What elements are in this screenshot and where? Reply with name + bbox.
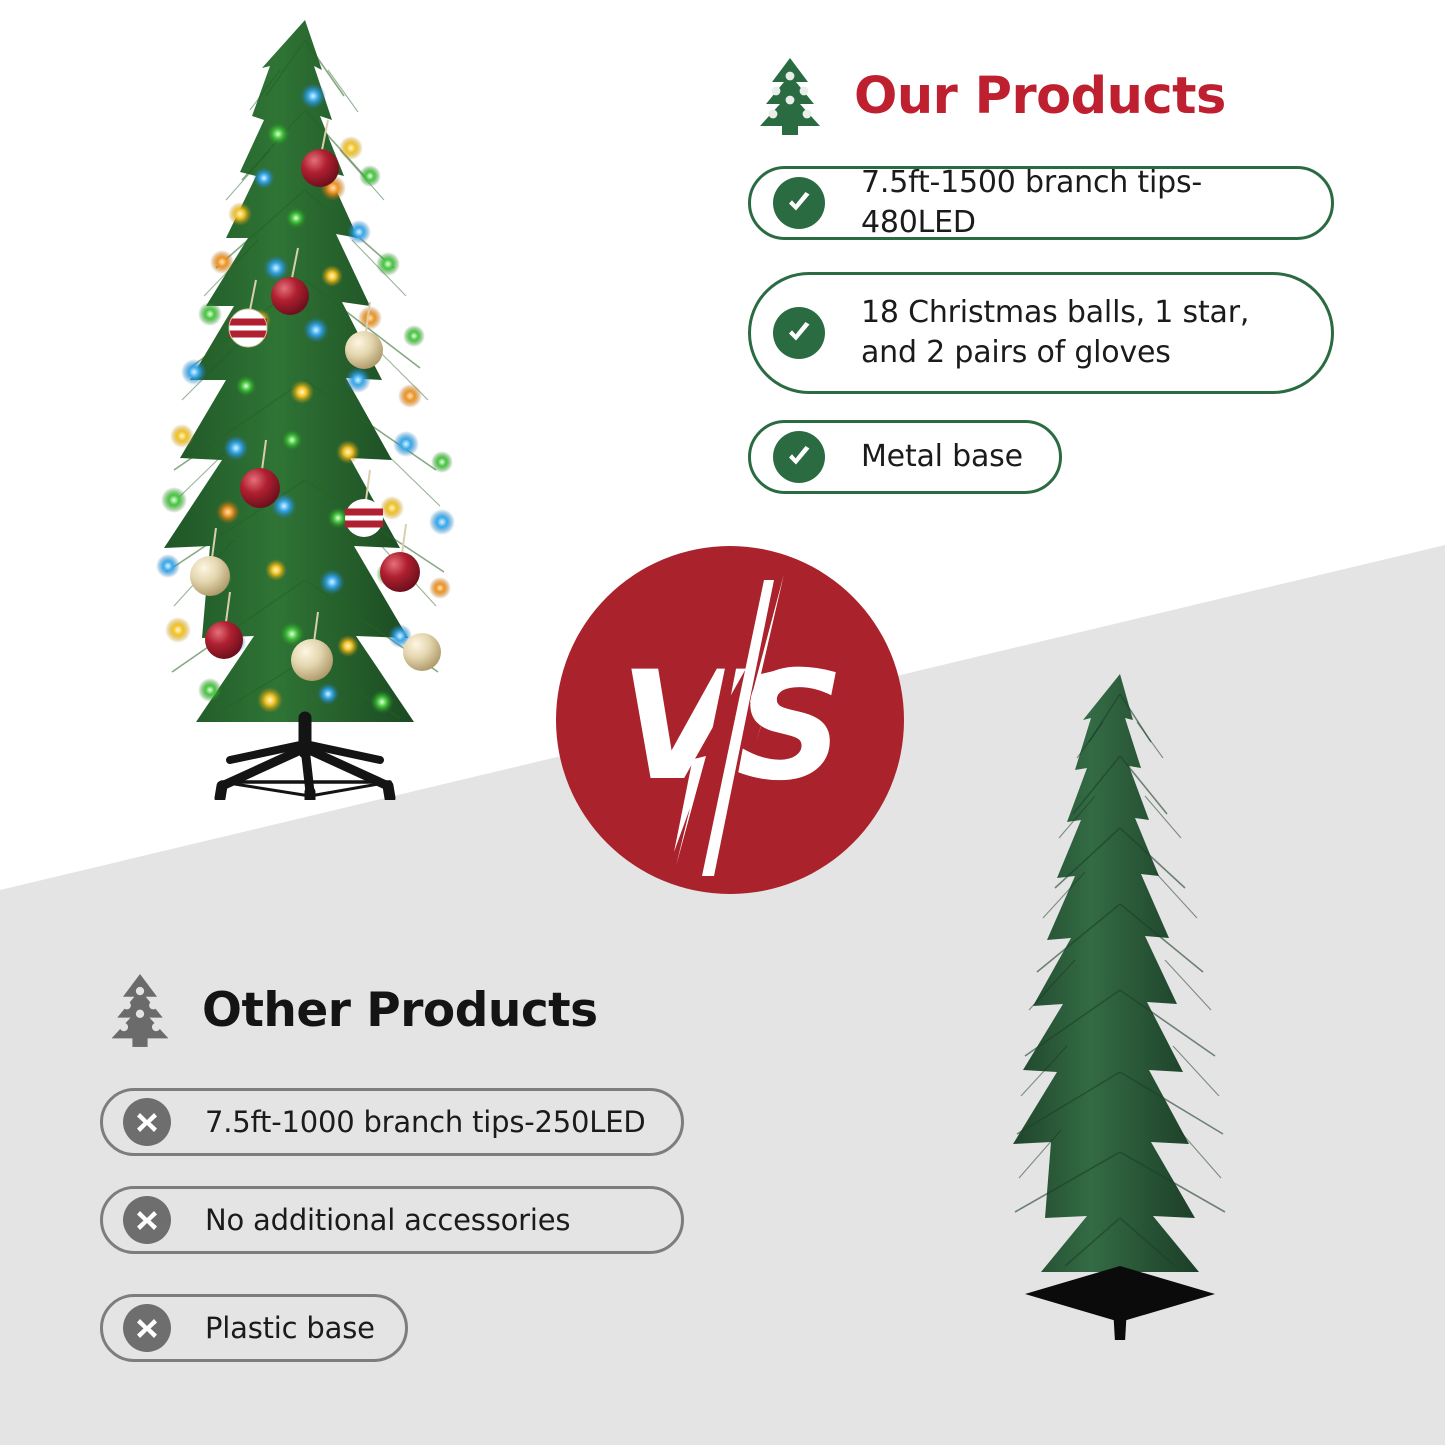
other-feature-pill[interactable]: Plastic base xyxy=(100,1294,408,1362)
our-feature-label: 7.5ft-1500 branch tips-480LED xyxy=(861,163,1309,242)
our-feature-label: 18 Christmas balls, 1 star, and 2 pairs … xyxy=(861,293,1309,372)
other-feature-label: 7.5ft-1000 branch tips-250LED xyxy=(205,1103,645,1141)
other-feature-label: No additional accessories xyxy=(205,1201,570,1239)
check-icon xyxy=(773,431,825,483)
other-products-header: Other Products xyxy=(104,972,598,1048)
our-feature-pill[interactable]: Metal base xyxy=(748,420,1062,494)
decorated-christmas-tree-image xyxy=(70,0,540,800)
other-feature-pill[interactable]: 7.5ft-1000 branch tips-250LED xyxy=(100,1088,684,1156)
check-icon xyxy=(773,177,825,229)
vs-badge: VS xyxy=(556,546,904,894)
our-products-header: Our Products xyxy=(752,56,1226,136)
cross-icon xyxy=(123,1196,171,1244)
our-feature-label: Metal base xyxy=(861,437,1023,477)
our-products-title: Our Products xyxy=(854,67,1226,126)
other-feature-label: Plastic base xyxy=(205,1309,375,1347)
other-feature-pill[interactable]: No additional accessories xyxy=(100,1186,684,1254)
our-feature-pill[interactable]: 7.5ft-1500 branch tips-480LED xyxy=(748,166,1334,240)
other-products-title: Other Products xyxy=(202,983,598,1038)
christmas-tree-icon xyxy=(752,56,828,136)
plain-christmas-tree-image xyxy=(925,660,1315,1340)
christmas-tree-icon xyxy=(104,972,176,1048)
check-icon xyxy=(773,307,825,359)
our-feature-pill[interactable]: 18 Christmas balls, 1 star, and 2 pairs … xyxy=(748,272,1334,394)
cross-icon xyxy=(123,1304,171,1352)
cross-icon xyxy=(123,1098,171,1146)
comparison-infographic: VS Our Products xyxy=(0,0,1445,1445)
